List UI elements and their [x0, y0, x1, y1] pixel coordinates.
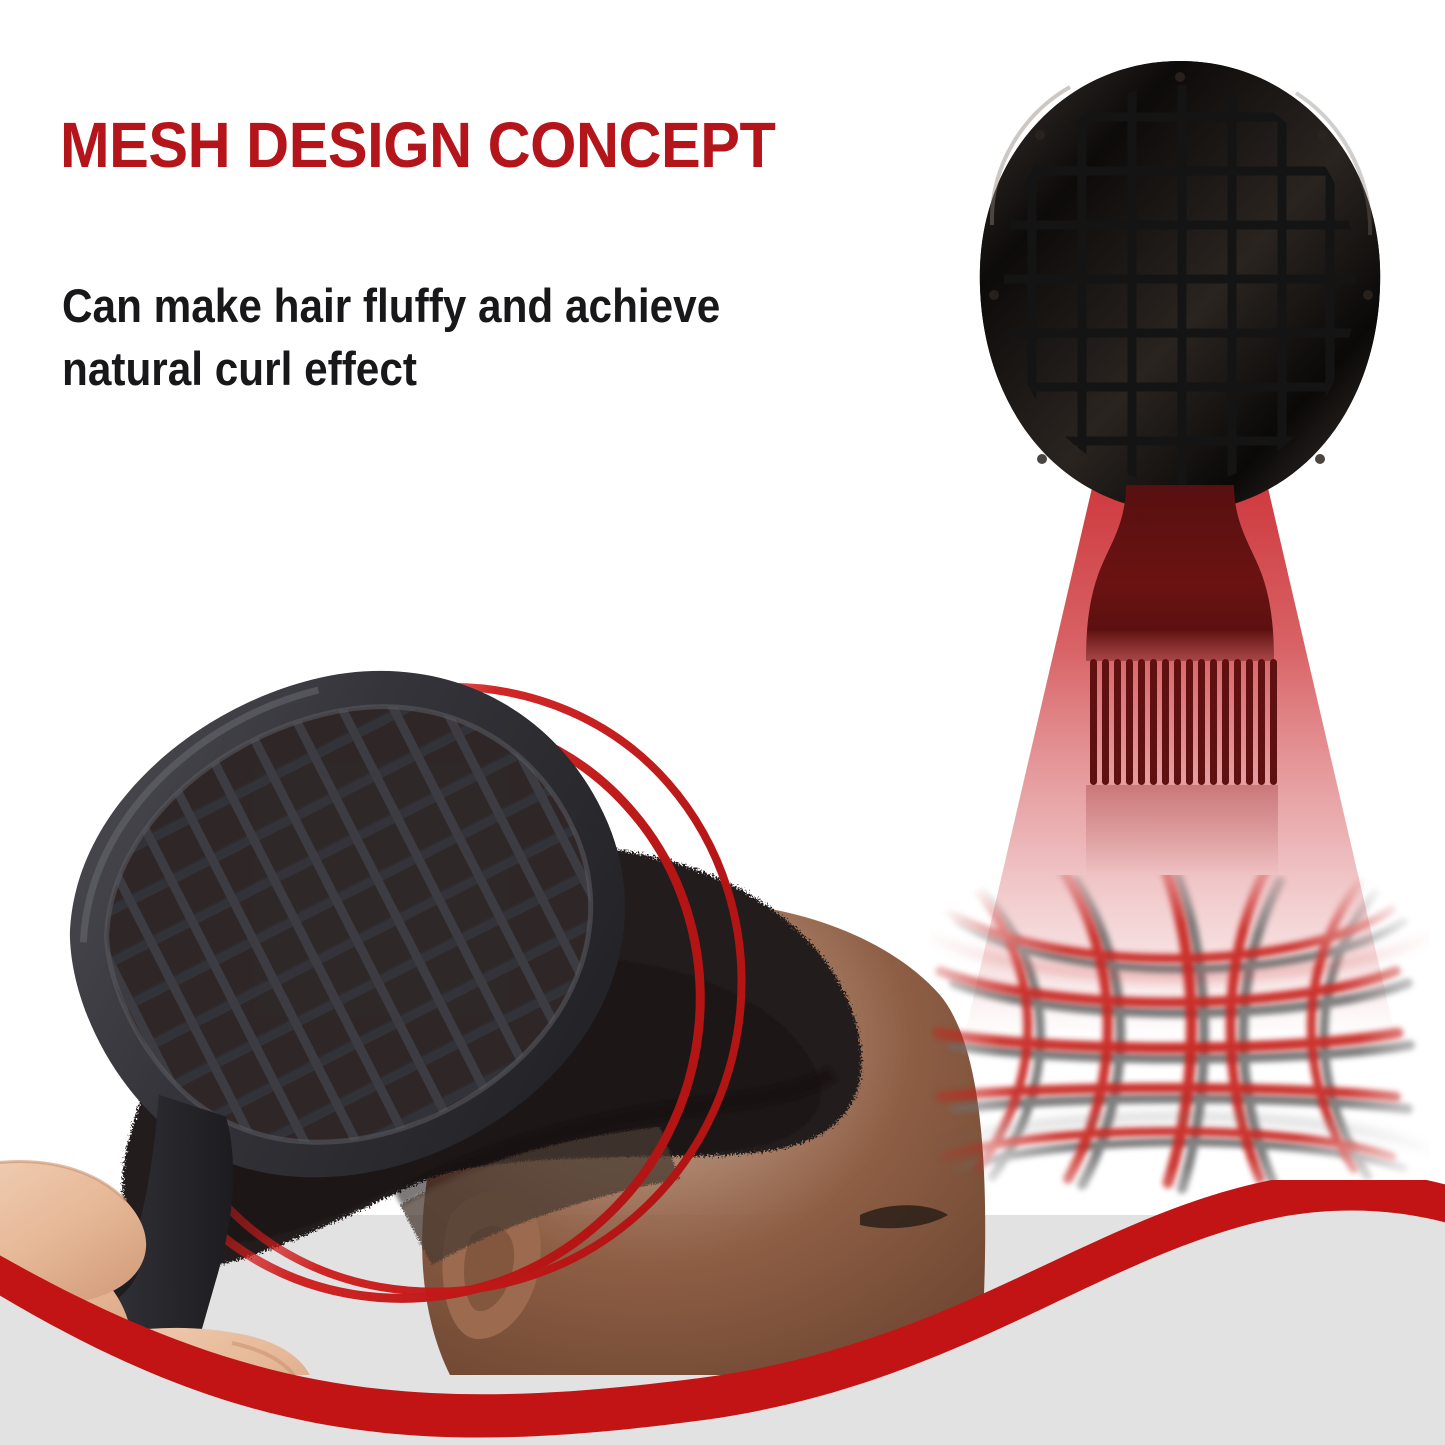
- comb-reflection: [1086, 785, 1278, 877]
- subtitle-line-1: Can make hair fluffy and achieve: [62, 275, 908, 338]
- product-infographic-canvas: MESH DESIGN CONCEPT Can make hair fluffy…: [0, 0, 1445, 1445]
- mesh-brush-head-with-light-beam: [930, 55, 1430, 1215]
- page-subtitle: Can make hair fluffy and achieve natural…: [62, 275, 908, 400]
- subtitle-line-2: natural curl effect: [62, 338, 908, 401]
- page-title: MESH DESIGN CONCEPT: [60, 113, 775, 177]
- mesh-grid-brush-head: [960, 55, 1400, 525]
- red-s-curve-ribbon: [0, 1180, 1445, 1445]
